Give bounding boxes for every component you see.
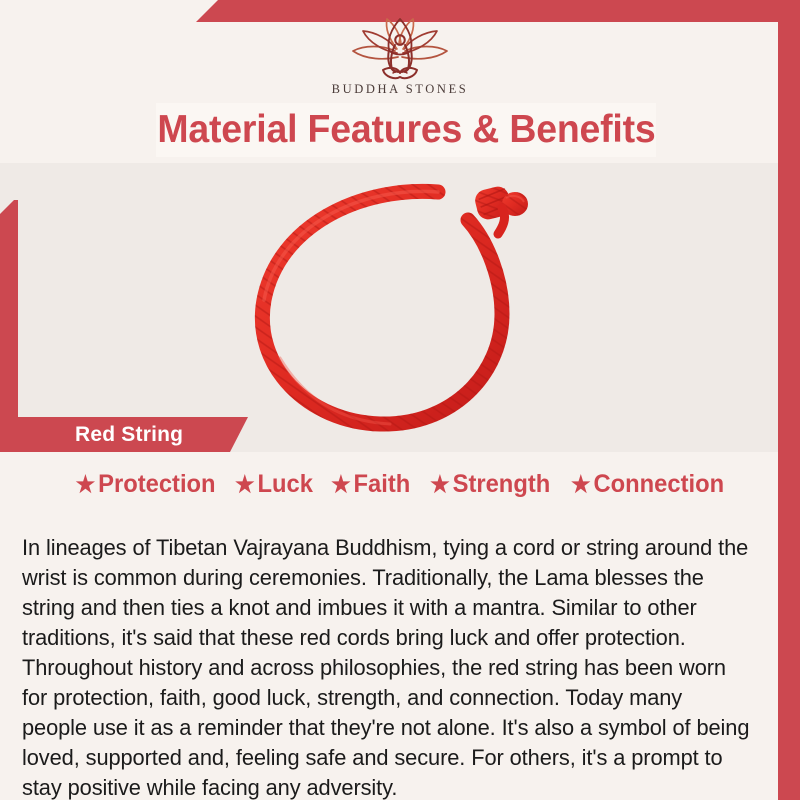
product-label-banner: Red String: [18, 417, 248, 452]
description-paragraph: In lineages of Tibetan Vajrayana Buddhis…: [22, 533, 751, 800]
infographic-page: BUDDHA STONES Material Features & Benefi…: [0, 0, 800, 800]
decor-bar-right: [778, 0, 800, 800]
benefit-label: Protection: [98, 470, 215, 499]
benefit-item-luck: ★ Luck: [235, 470, 313, 499]
benefit-item-protection: ★ Protection: [76, 470, 216, 499]
star-icon: ★: [571, 473, 591, 496]
page-title: Material Features & Benefits: [157, 108, 655, 152]
star-icon: ★: [76, 473, 96, 496]
red-braided-string-bracelet: [240, 168, 570, 438]
lotus-meditation-figure-icon: [335, 14, 465, 80]
benefit-label: Luck: [258, 470, 313, 499]
star-icon: ★: [235, 473, 255, 496]
title-plaque: Material Features & Benefits: [156, 103, 656, 157]
benefit-item-faith: ★ Faith: [331, 470, 410, 499]
star-icon: ★: [430, 473, 450, 496]
brand-logo: BUDDHA STONES: [0, 14, 800, 104]
product-label: Red String: [75, 423, 183, 447]
benefit-label: Strength: [452, 470, 550, 499]
benefit-label: Connection: [593, 470, 724, 499]
benefits-row: ★ Protection ★ Luck ★ Faith ★ Strength ★…: [0, 465, 800, 503]
brand-name: BUDDHA STONES: [332, 82, 469, 97]
benefit-label: Faith: [354, 470, 411, 499]
decor-bar-left: [0, 200, 18, 452]
benefit-item-connection: ★ Connection: [571, 470, 724, 499]
star-icon: ★: [331, 473, 351, 496]
benefit-item-strength: ★ Strength: [430, 470, 550, 499]
